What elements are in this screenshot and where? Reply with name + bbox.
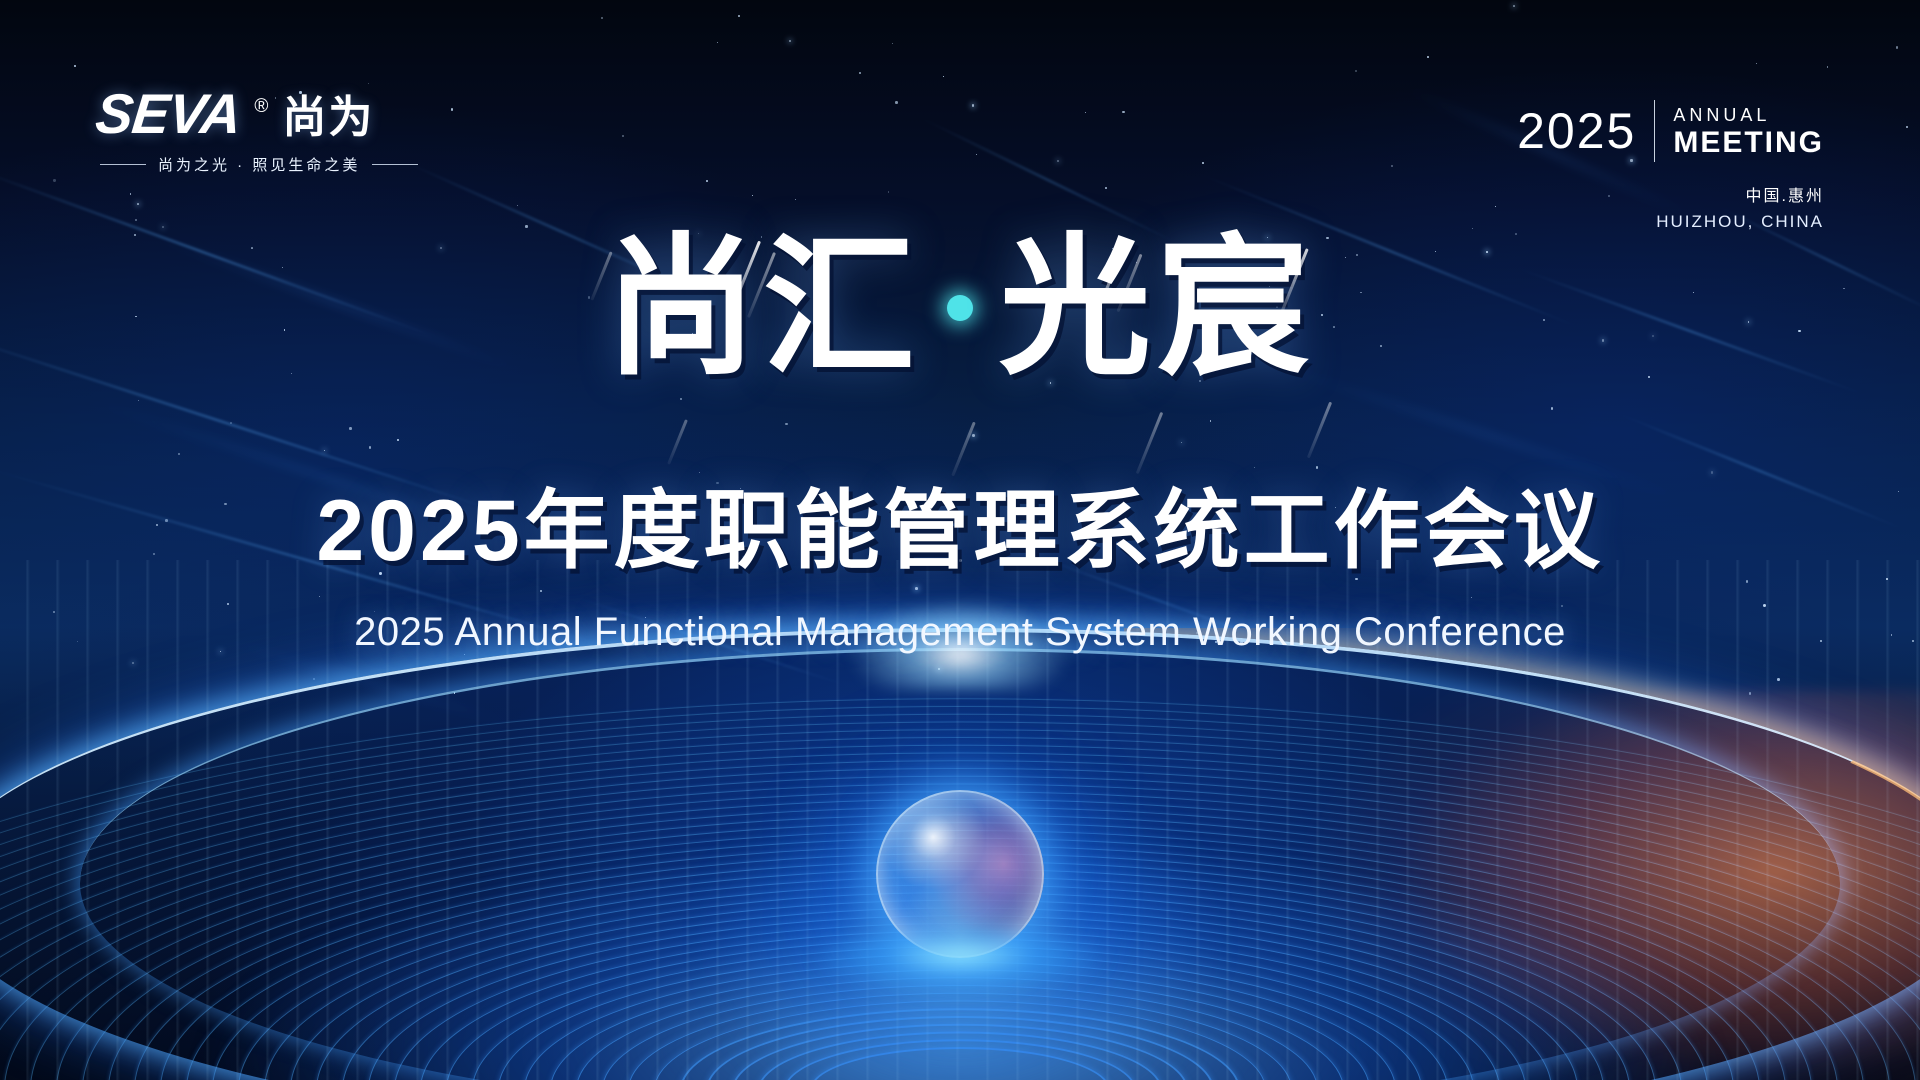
meeting-location-chinese: 中国.惠州 <box>1517 182 1824 206</box>
meeting-title-stack: ANNUAL MEETING <box>1673 104 1824 158</box>
hero-title-left: 尚汇 <box>605 232 921 384</box>
tagline-rule-left <box>100 164 146 165</box>
hero-subtitle-chinese: 2025年度职能管理系统工作会议 <box>0 488 1920 574</box>
brand-logo: SEVA ® 尚为 尚为之光 · 照见生命之美 <box>96 86 418 175</box>
hero-title-block: 尚汇 光宸 <box>0 232 1920 384</box>
hero-separator-dot <box>947 295 973 321</box>
brand-name-chinese: 尚为 <box>282 96 374 140</box>
brand-tagline: 尚为之光 · 照见生命之美 <box>100 154 418 175</box>
meeting-badge-row: 2025 ANNUAL MEETING <box>1517 100 1824 162</box>
brand-wordmark: SEVA <box>93 86 243 142</box>
tagline-rule-right <box>372 164 418 165</box>
meeting-location-english: HUIZHOU, CHINA <box>1517 212 1824 232</box>
tagline-text: 尚为之光 · 照见生命之美 <box>158 154 360 175</box>
meeting-divider <box>1654 100 1655 162</box>
hero-title: 尚汇 光宸 <box>605 232 1315 384</box>
meeting-meeting-label: MEETING <box>1673 127 1824 159</box>
brand-logo-row: SEVA ® 尚为 <box>96 86 418 142</box>
conference-backdrop: SEVA ® 尚为 尚为之光 · 照见生命之美 2025 ANNUAL MEET… <box>0 0 1920 1080</box>
hero-title-right: 光宸 <box>999 232 1315 384</box>
sphere-base-glow <box>810 930 1110 994</box>
hero-subtitle-english: 2025 Annual Functional Management System… <box>0 608 1920 656</box>
registered-trademark-icon: ® <box>254 97 268 116</box>
meeting-badge: 2025 ANNUAL MEETING 中国.惠州 HUIZHOU, CHINA <box>1517 100 1824 232</box>
meeting-annual-label: ANNUAL <box>1673 104 1824 127</box>
meeting-year: 2025 <box>1517 106 1636 156</box>
